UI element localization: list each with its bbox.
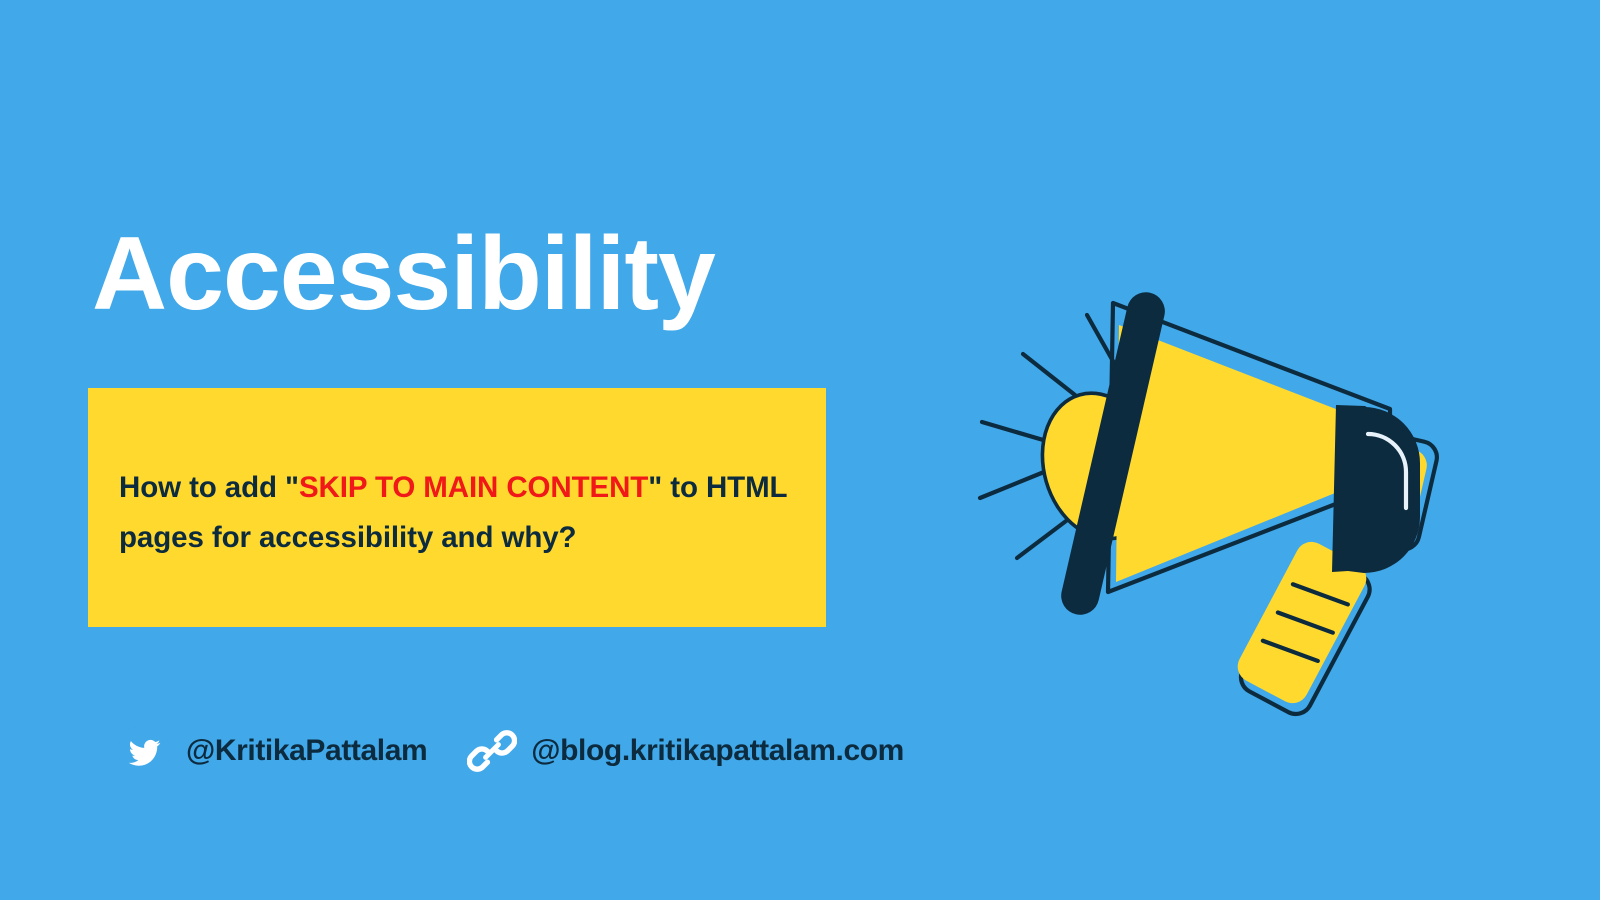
megaphone-illustration: [940, 270, 1500, 710]
callout-text-before: How to add ": [119, 471, 299, 504]
page-title: Accessibility: [92, 222, 715, 326]
chain-link-icon[interactable]: [467, 726, 517, 776]
twitter-handle-label[interactable]: @KritikaPattalam: [186, 734, 427, 768]
callout-highlight: SKIP TO MAIN CONTENT: [299, 471, 648, 504]
callout-text: How to add "SKIP TO MAIN CONTENT" to HTM…: [119, 463, 819, 564]
blog-group[interactable]: @blog.kritikapattalam.com: [427, 726, 904, 776]
cover-canvas: Accessibility How to add "SKIP TO MAIN C…: [0, 0, 1600, 900]
callout-box: How to add "SKIP TO MAIN CONTENT" to HTM…: [88, 388, 826, 627]
twitter-bird-icon[interactable]: [118, 725, 171, 778]
blog-handle-label[interactable]: @blog.kritikapattalam.com: [531, 734, 904, 768]
footer-social-row: @KritikaPattalam @blog.kritikapattalam.c…: [118, 716, 904, 786]
twitter-group[interactable]: @KritikaPattalam: [118, 725, 427, 778]
